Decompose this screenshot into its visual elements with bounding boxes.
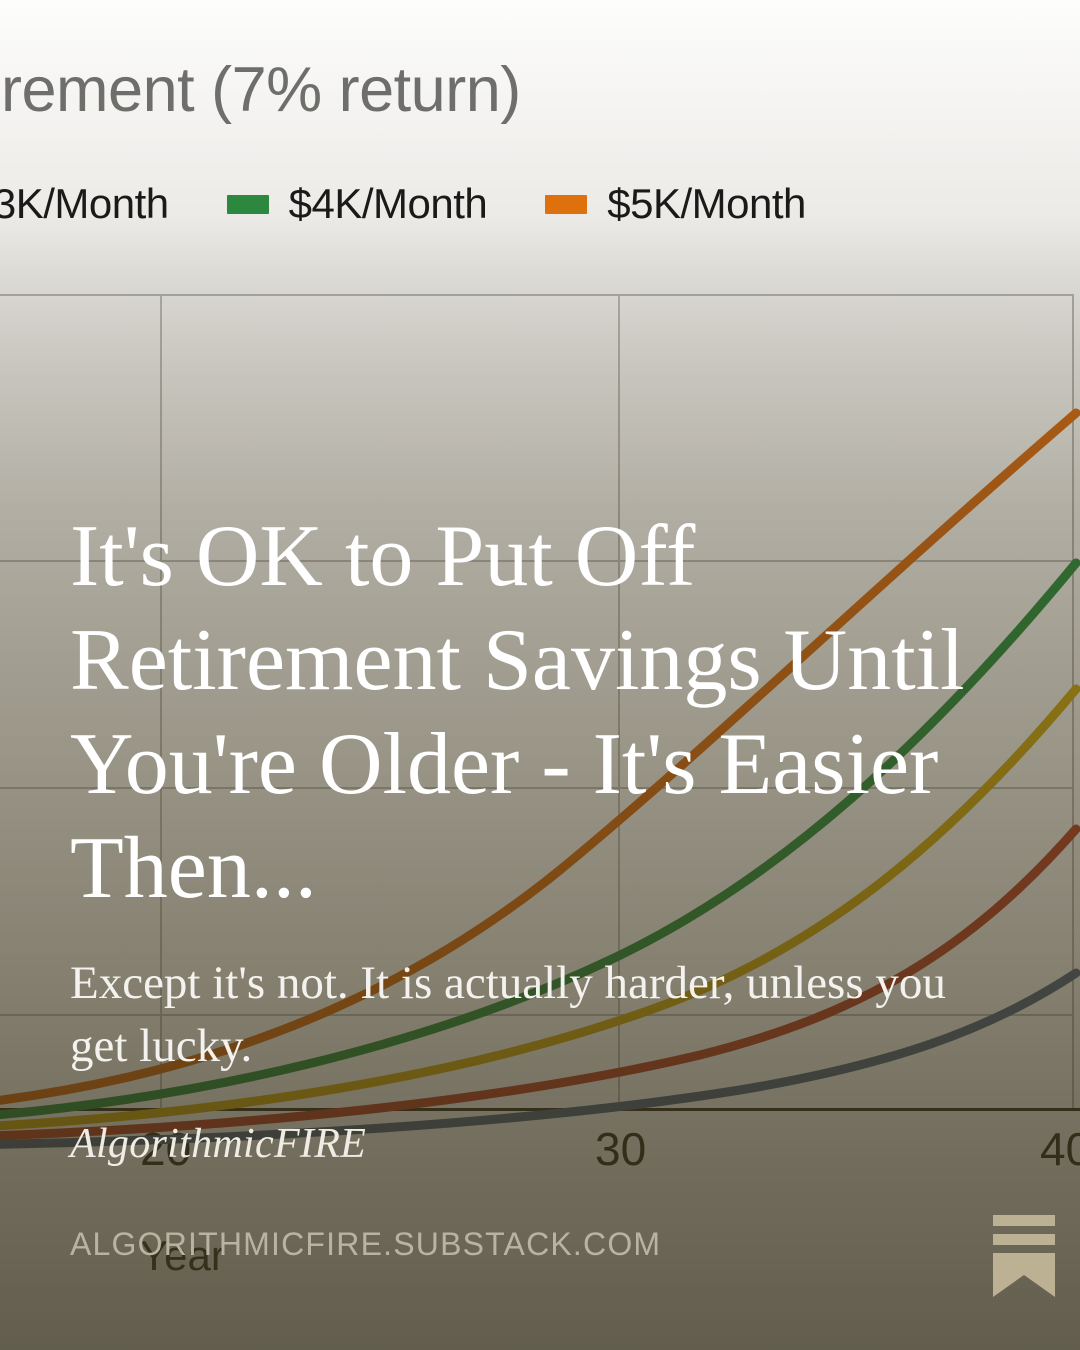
publication-byline: AlgorithmicFIRE [70,1120,366,1168]
substack-bookmark-icon[interactable] [993,1215,1055,1297]
substack-share-card: etirement (7% return) $3K/Month $4K/Mont… [0,0,1080,1350]
footer-url: ALGORITHMICFIRE.SUBSTACK.COM [70,1226,661,1263]
card-content: It's OK to Put Off Retirement Savings Un… [0,0,1080,1350]
page-title: It's OK to Put Off Retirement Savings Un… [70,505,1030,921]
subtitle: Except it's not. It is actually harder, … [70,952,1000,1078]
